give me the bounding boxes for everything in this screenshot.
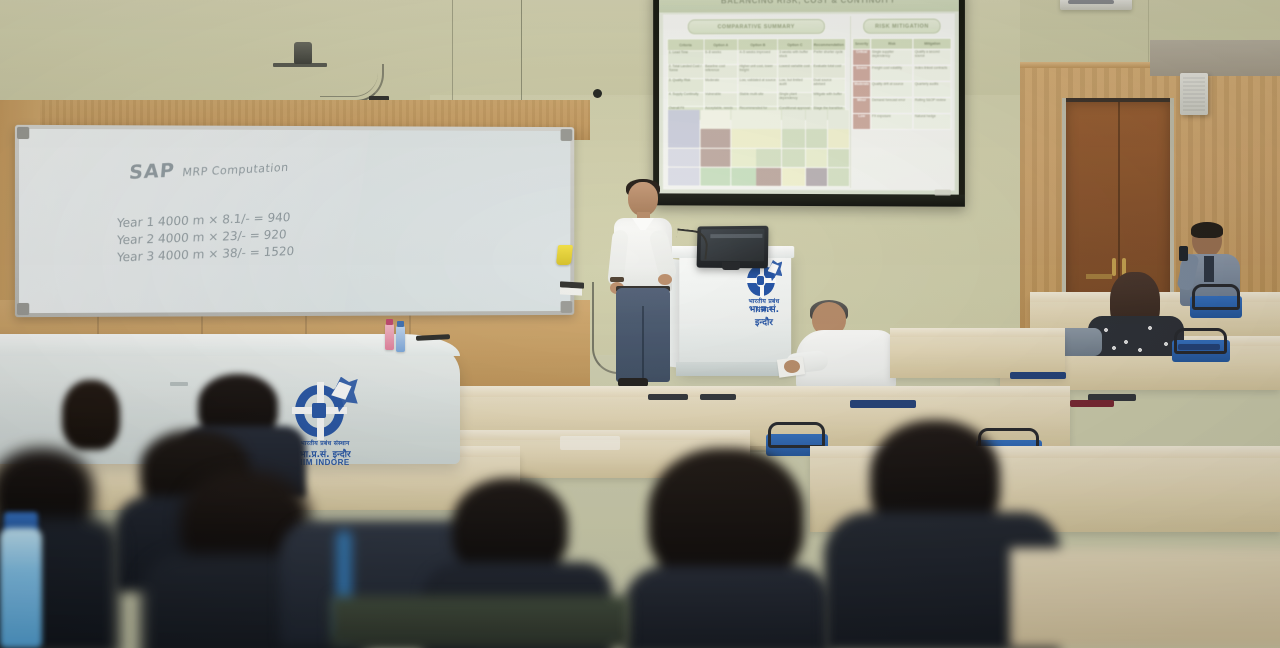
cell: Vulnerable — [704, 93, 738, 107]
student-hair — [1191, 222, 1223, 238]
slide-body: COMPARATIVE SUMMARY Criteria Option A Op… — [663, 13, 955, 190]
cell-severity: Moderate — [853, 81, 871, 97]
water-bottle[interactable] — [0, 528, 42, 648]
matrix-cell — [806, 148, 827, 166]
cell: FX exposure — [871, 114, 914, 130]
table-row: Severe Freight cost volatility Index-lin… — [853, 65, 951, 81]
matrix-cell — [782, 148, 805, 166]
cell: Qualify a second source — [913, 49, 951, 65]
table-header-row: Criteria Option A Option B Option C Reco… — [667, 38, 845, 50]
matrix-cell — [731, 148, 756, 166]
cell-severity: Critical — [853, 49, 871, 65]
desk-row-center-right-top — [890, 328, 1065, 337]
student-tie — [1204, 256, 1214, 282]
comparative-summary-heading: COMPARATIVE SUMMARY — [688, 19, 825, 34]
smartphone-icon[interactable] — [1179, 246, 1188, 261]
col-risk: Risk — [871, 38, 914, 49]
matrix-cell — [756, 110, 781, 128]
slide-left-panel: COMPARATIVE SUMMARY Criteria Option A Op… — [665, 16, 848, 188]
cell: Lowest variable cost — [778, 64, 812, 78]
cell-severity: Severe — [853, 65, 871, 81]
cell: Evaluate total cost — [812, 64, 846, 78]
col-option-c: Option C — [778, 38, 812, 50]
matrix-cell — [782, 110, 805, 128]
cell: 4–5 weeks improved — [738, 51, 778, 65]
col-option-a: Option A — [704, 39, 738, 51]
cell: 1. Lead Time — [667, 51, 703, 65]
table-row: 4. Supply Continuity Vulnerable Stable m… — [667, 92, 845, 106]
pink-marker[interactable] — [385, 324, 394, 350]
podium-base — [676, 362, 794, 376]
risk-mitigation-table: Severity Risk Mitigation Critical Single… — [852, 38, 951, 131]
cell: Quality drift at source — [871, 81, 914, 97]
desk-surface — [1010, 548, 1280, 648]
cell: Low, validated at source — [738, 79, 778, 93]
student-foreground-female — [620, 448, 830, 648]
matrix-cell — [668, 129, 700, 147]
cell: Moderate — [704, 79, 738, 93]
matrix-cell — [828, 110, 849, 128]
matrix-cell — [782, 129, 805, 147]
matrix-cell — [806, 129, 827, 147]
matrix-cell — [731, 167, 756, 185]
col-mitigation: Mitigation — [913, 38, 951, 49]
matrix-cell — [806, 110, 827, 128]
table-row: Low FX exposure Natural hedge — [853, 114, 951, 130]
table-row: 1. Lead Time 6–8 weeks 4–5 weeks improve… — [667, 50, 845, 64]
matrix-cell — [828, 129, 849, 147]
student-top-pattern — [1092, 320, 1180, 354]
student-female-right — [1088, 272, 1184, 346]
matrix-cell — [731, 129, 756, 147]
col-severity: Severity — [853, 38, 871, 49]
whiteboard-duster-icon[interactable] — [556, 245, 573, 265]
podium-iim-logo: भारतीय प्रबंध संस्थान भा.प्र.सं. इन्दौर — [742, 262, 786, 312]
slide-right-panel: RISK MITIGATION Severity Risk Mitigation — [850, 15, 952, 188]
col-criteria: Criteria — [667, 39, 703, 51]
student-hair — [62, 380, 120, 450]
device-on-desk[interactable] — [1010, 372, 1066, 379]
chair[interactable] — [1190, 286, 1242, 320]
table-row: Critical Single supplier dependency Qual… — [853, 49, 951, 65]
presenter — [606, 182, 678, 390]
col-option-b: Option B — [738, 39, 778, 51]
student-hair — [452, 478, 568, 574]
blue-marker[interactable] — [396, 326, 405, 352]
projection-screen: BALANCING RISK, COST & CONTINUITY COMPAR… — [653, 0, 965, 207]
whiteboard-surface[interactable]: SAP MRP Computation Year 1 4000 m × 8.1/… — [19, 129, 570, 313]
matrix-cell — [668, 148, 700, 166]
cell: 3. Quality Risk — [667, 79, 703, 93]
cell: Prefer shorter cycle — [812, 50, 846, 64]
cell: Index-linked contracts — [913, 65, 951, 81]
table-row: 2. Total Landed Cost / Tonne Baseline co… — [667, 64, 845, 78]
cell: Demand forecast error — [871, 98, 914, 114]
whiteboard-writing: SAP MRP Computation Year 1 4000 m × 8.1/… — [129, 158, 289, 180]
cell: Single plant dependency — [778, 92, 812, 106]
student-top — [624, 566, 830, 648]
matrix-cell — [756, 148, 781, 166]
col-recommendation: Recommendation — [812, 38, 846, 50]
whiteboard[interactable]: SAP MRP Computation Year 1 4000 m × 8.1/… — [15, 125, 574, 317]
matrix-cell — [782, 168, 805, 186]
matrix-cell — [700, 129, 730, 147]
risk-mitigation-heading: RISK MITIGATION — [863, 19, 940, 34]
cell: Higher unit cost, lower freight — [738, 65, 778, 79]
wall-speaker-icon — [1180, 73, 1208, 115]
presentation-slide: BALANCING RISK, COST & CONTINUITY COMPAR… — [659, 0, 959, 195]
lecture-hall-photo: BALANCING RISK, COST & CONTINUITY COMPAR… — [0, 0, 1280, 648]
cell: Baseline cost reference — [704, 65, 738, 79]
matrix-cell — [828, 168, 849, 187]
cell: Dual source advised — [812, 78, 846, 92]
cell: 2. Total Landed Cost / Tonne — [667, 65, 703, 79]
projection-screen-housing — [653, 193, 965, 206]
whiteboard-corner — [561, 301, 573, 313]
matrix-cell — [731, 110, 756, 128]
desk-foreground-right — [1010, 548, 1280, 648]
cell-severity: Low — [853, 114, 871, 130]
whiteboard-heading-note: MRP Computation — [182, 161, 289, 179]
device-on-desk[interactable] — [700, 394, 736, 400]
ceiling-light-fixture — [1060, 0, 1132, 10]
scenario-matrix — [668, 110, 845, 186]
upper-right-wall-panel — [1150, 40, 1280, 76]
cell: 3 weeks with buffer stock — [778, 50, 812, 64]
projection-screen-surface: BALANCING RISK, COST & CONTINUITY COMPAR… — [659, 0, 959, 195]
presenter-head — [628, 182, 658, 216]
table-row: Moderate Quality drift at source Quarter… — [853, 81, 951, 97]
comparative-summary-table: Criteria Option A Option B Option C Reco… — [667, 38, 846, 121]
cell: 6–8 weeks — [704, 51, 738, 65]
observer-hand — [784, 360, 800, 373]
tray-paper-slip — [560, 287, 582, 295]
cell: Natural hedge — [913, 114, 951, 130]
desk-label-plate — [560, 436, 620, 450]
cell-severity: Minor — [853, 98, 871, 114]
seated-observer — [782, 300, 902, 386]
device-on-desk[interactable] — [850, 400, 916, 408]
device-on-desk[interactable] — [648, 394, 688, 400]
matrix-cell — [700, 110, 730, 128]
matrix-cell — [700, 148, 730, 166]
matrix-cell — [756, 129, 781, 147]
monitor-content-strip — [710, 234, 762, 238]
cell: Single supplier dependency — [871, 49, 914, 65]
whiteboard-corner — [17, 127, 29, 139]
logo-hindi: भा.प्र.सं. इन्दौर — [742, 302, 786, 328]
matrix-cell — [756, 167, 781, 185]
projection-screen-pull-tab[interactable] — [935, 189, 951, 195]
matrix-cell — [828, 149, 849, 167]
cell: Quarterly audits — [913, 81, 951, 97]
device-on-desk[interactable] — [1070, 400, 1114, 407]
matrix-cell — [668, 110, 700, 128]
cell: Freight cost volatility — [871, 65, 914, 81]
whiteboard-lines: Year 1 4000 m × 8.1/- = 940 Year 2 4000 … — [117, 210, 294, 261]
whiteboard-heading: SAP MRP Computation — [128, 154, 290, 184]
table-row: 3. Quality Risk Moderate Low, validated … — [667, 78, 845, 92]
whiteboard-corner — [17, 303, 29, 315]
whiteboard-corner — [561, 129, 573, 141]
cell: Mitigate with buffer — [812, 92, 846, 106]
cell: Stable multi-site — [738, 93, 778, 107]
notebook-foreground — [330, 596, 630, 648]
notebook-body — [330, 596, 630, 648]
presenter-right-hand — [658, 274, 672, 285]
cell: Low, but limited audit — [778, 78, 812, 92]
secondary-cord — [452, 0, 453, 102]
presenter-jeans — [616, 288, 670, 382]
table-header-row: Severity Risk Mitigation — [853, 38, 951, 49]
wall-camera-icon — [294, 42, 312, 64]
monitor-screen — [700, 229, 764, 261]
table-row: Minor Demand forecast error Rolling S&OP… — [853, 98, 951, 114]
device-on-desk[interactable] — [1178, 344, 1220, 350]
cell: 4. Supply Continuity — [667, 93, 703, 107]
matrix-cell — [806, 168, 827, 186]
cell: Rolling S&OP review — [913, 98, 951, 114]
monitor-stand — [722, 262, 740, 270]
matrix-cell — [700, 167, 730, 185]
desk-row-middle-top — [430, 386, 1070, 397]
